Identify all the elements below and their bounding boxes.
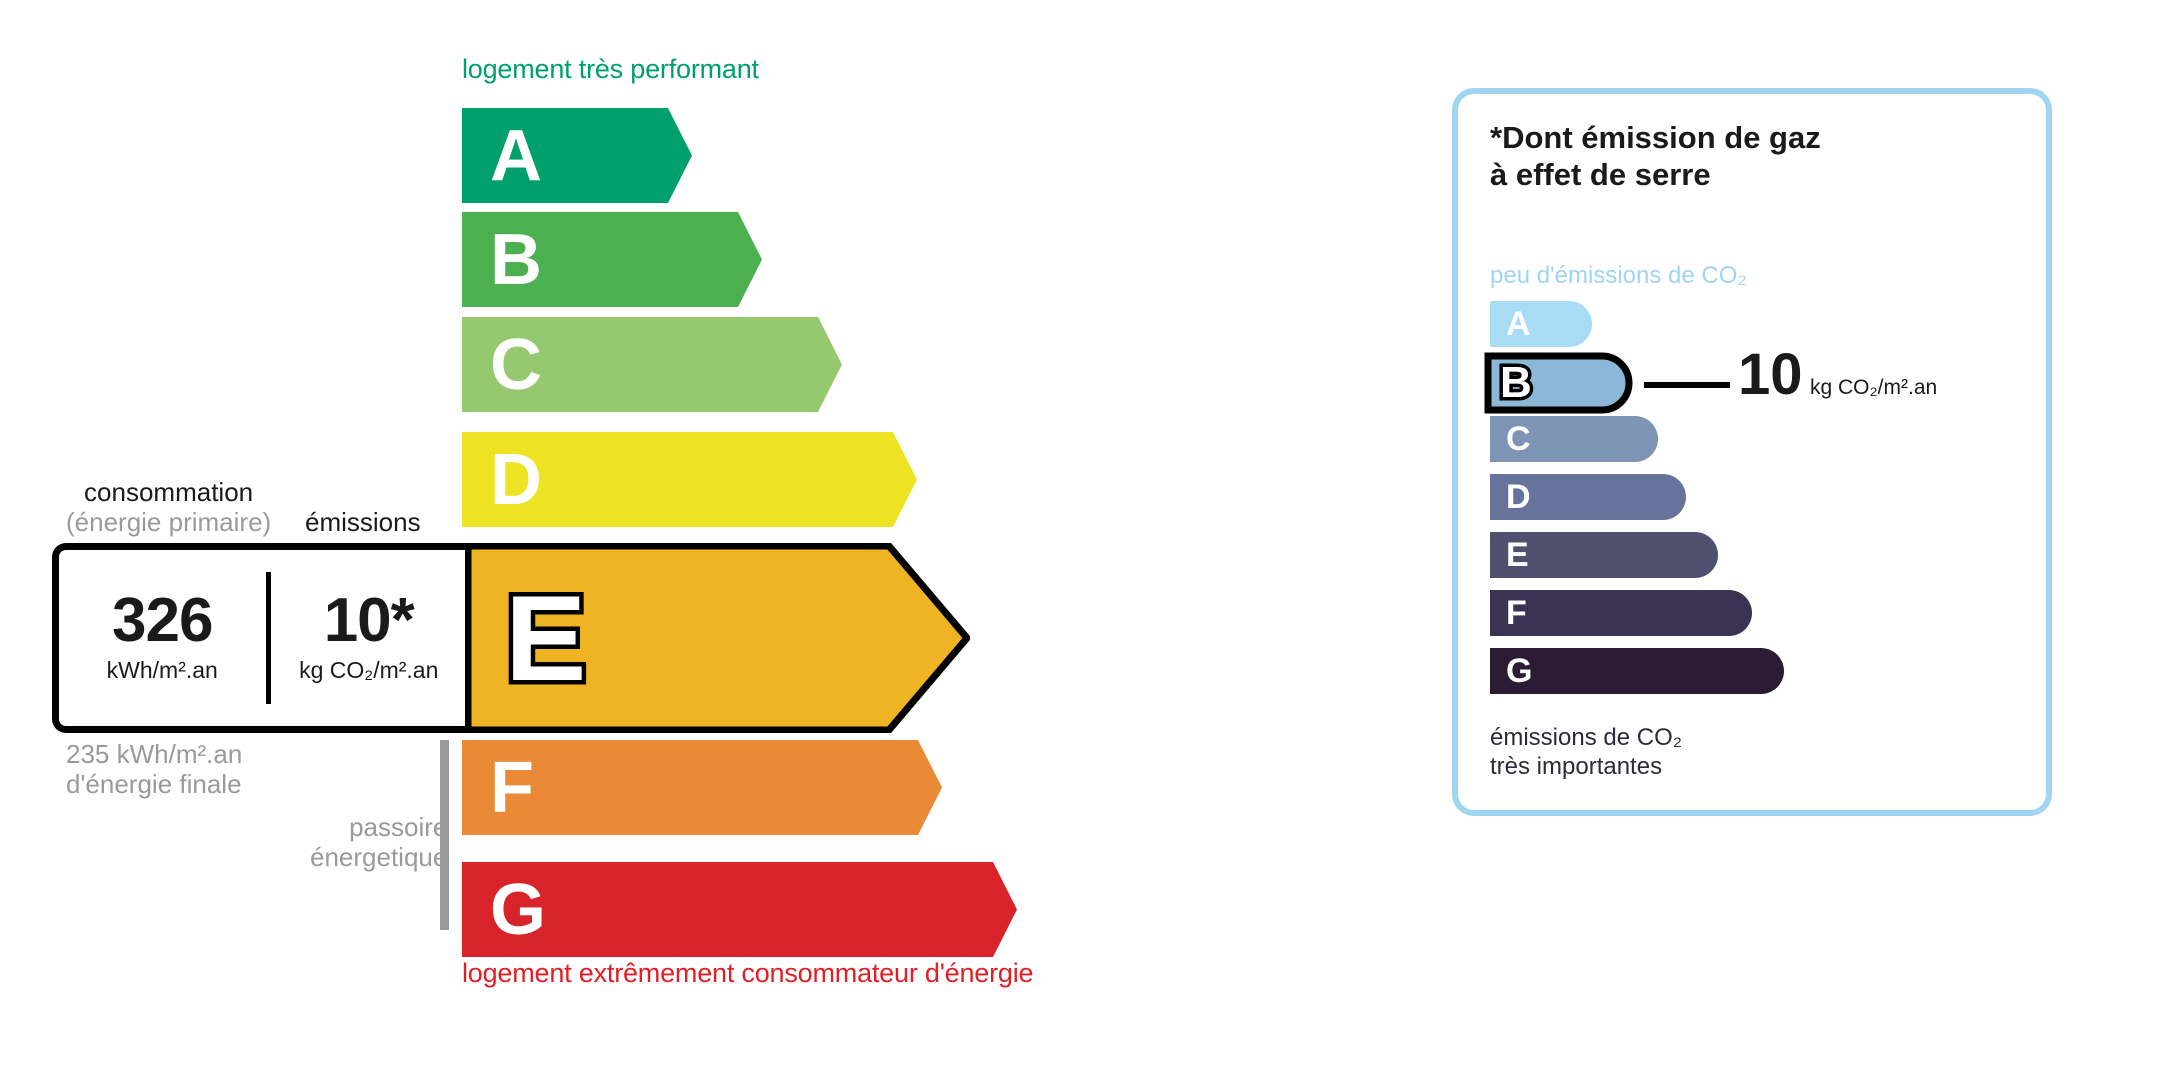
band-letter-c: C: [490, 329, 542, 401]
co2-caption-top: peu d'émissions de CO₂: [1490, 262, 1747, 290]
scale-caption-top: logement très performant: [462, 54, 759, 85]
co2-value: 10: [1738, 346, 1803, 404]
band-letter-d: D: [490, 444, 542, 516]
passoire-energetique-note: passoire énergetique: [310, 813, 447, 873]
energy-band-c[interactable]: C: [462, 317, 842, 412]
energy-value-box: 326 kWh/m².an 10* kg CO₂/m².an: [52, 543, 472, 733]
co2-bar-b-selected[interactable]: B: [1484, 352, 1636, 414]
consumption-label-group: consommation (énergie primaire): [66, 478, 271, 538]
band-letter-g: G: [490, 874, 546, 946]
co2-leader-line: [1644, 382, 1730, 388]
energy-band-e-selected[interactable]: E: [465, 543, 970, 733]
band-arrow-icon-a: [644, 108, 692, 203]
band-letter-f: F: [490, 752, 534, 824]
band-arrow-icon-f: [894, 740, 942, 835]
band-arrow-icon-g: [969, 862, 1017, 957]
band-letter-a: A: [490, 120, 542, 192]
co2-emissions-panel: *Dont émission de gaz à effet de serre p…: [1452, 88, 2052, 816]
consumption-value: 326: [112, 592, 212, 651]
energy-scale-chart: logement très performant A B C: [0, 0, 1300, 1079]
energy-band-b[interactable]: B: [462, 212, 762, 307]
co2-letter-g: G: [1506, 654, 1532, 688]
co2-bar-g[interactable]: G: [1490, 648, 1784, 694]
final-energy-note: 235 kWh/m².an d'énergie finale: [66, 740, 242, 800]
co2-caption-bottom: émissions de CO₂ très importantes: [1490, 724, 1682, 782]
consumption-label: consommation: [66, 478, 271, 508]
passoire-bracket: [440, 740, 449, 930]
co2-panel-title: *Dont émission de gaz à effet de serre: [1490, 120, 1821, 193]
emissions-unit: kg CO₂/m².an: [299, 657, 438, 684]
co2-bar-c[interactable]: C: [1490, 416, 1658, 462]
energy-band-a[interactable]: A: [462, 108, 692, 203]
co2-bar-a[interactable]: A: [1490, 301, 1592, 347]
co2-letter-d: D: [1506, 480, 1531, 514]
emissions-label: émissions: [305, 508, 421, 538]
co2-letter-b: B: [1500, 361, 1532, 405]
consumption-sublabel: (énergie primaire): [66, 508, 271, 538]
passoire-line-1: passoire: [310, 813, 447, 843]
scale-caption-bottom: logement extrêmement consommateur d'éner…: [462, 958, 1033, 989]
consumption-unit: kWh/m².an: [107, 657, 218, 684]
energy-band-d[interactable]: D: [462, 432, 917, 527]
band-arrow-icon-c: [794, 317, 842, 412]
energy-band-f[interactable]: F: [462, 740, 942, 835]
co2-letter-e: E: [1506, 538, 1529, 572]
energy-band-g[interactable]: G: [462, 862, 1017, 957]
band-letter-e: E: [505, 577, 586, 699]
passoire-line-2: énergetique: [310, 843, 447, 873]
band-arrow-icon-d: [869, 432, 917, 527]
co2-letter-c: C: [1506, 422, 1531, 456]
band-arrow-icon-b: [714, 212, 762, 307]
co2-letter-f: F: [1506, 596, 1527, 630]
band-letter-b: B: [490, 224, 542, 296]
consumption-value-cell: 326 kWh/m².an: [59, 550, 266, 726]
co2-bar-d[interactable]: D: [1490, 474, 1686, 520]
co2-bar-f[interactable]: F: [1490, 590, 1752, 636]
emissions-value-cell: 10* kg CO₂/m².an: [266, 550, 473, 726]
co2-bar-e[interactable]: E: [1490, 532, 1718, 578]
emissions-value: 10*: [324, 592, 414, 651]
co2-value-unit: kg CO₂/m².an: [1810, 377, 1937, 398]
co2-letter-a: A: [1506, 307, 1531, 341]
